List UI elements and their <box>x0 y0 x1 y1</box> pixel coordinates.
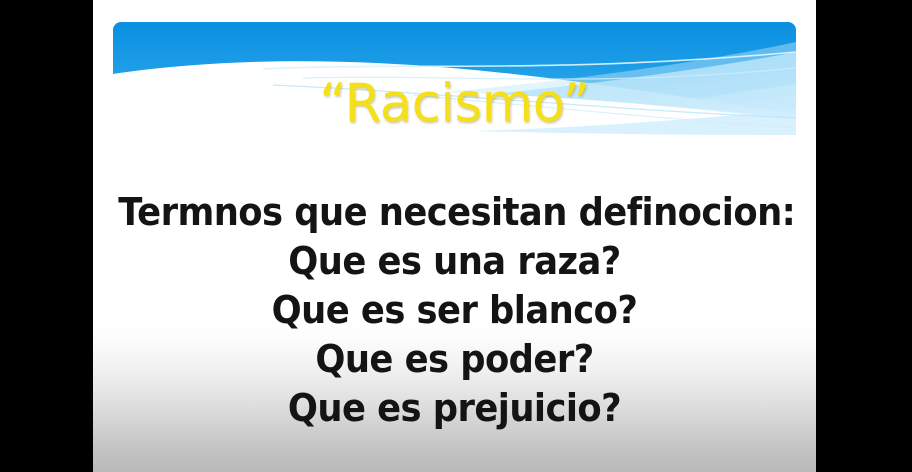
body-line-1: Termnos que necesitan definocion: <box>118 188 790 237</box>
body-line-2: Que es una raza? <box>118 237 790 286</box>
video-frame: “Racismo” Termnos que necesitan definoci… <box>0 0 912 472</box>
slide-title: “Racismo” <box>93 76 816 132</box>
body-line-3: Que es ser blanco? <box>118 286 790 335</box>
body-line-5: Que es prejuicio? <box>118 384 790 433</box>
body-line-4: Que es poder? <box>118 335 790 384</box>
presentation-slide: “Racismo” Termnos que necesitan definoci… <box>93 0 816 472</box>
slide-body-text: Termnos que necesitan definocion: Que es… <box>118 188 790 433</box>
letterbox-bar-right <box>816 0 912 472</box>
letterbox-bar-left <box>0 0 93 472</box>
